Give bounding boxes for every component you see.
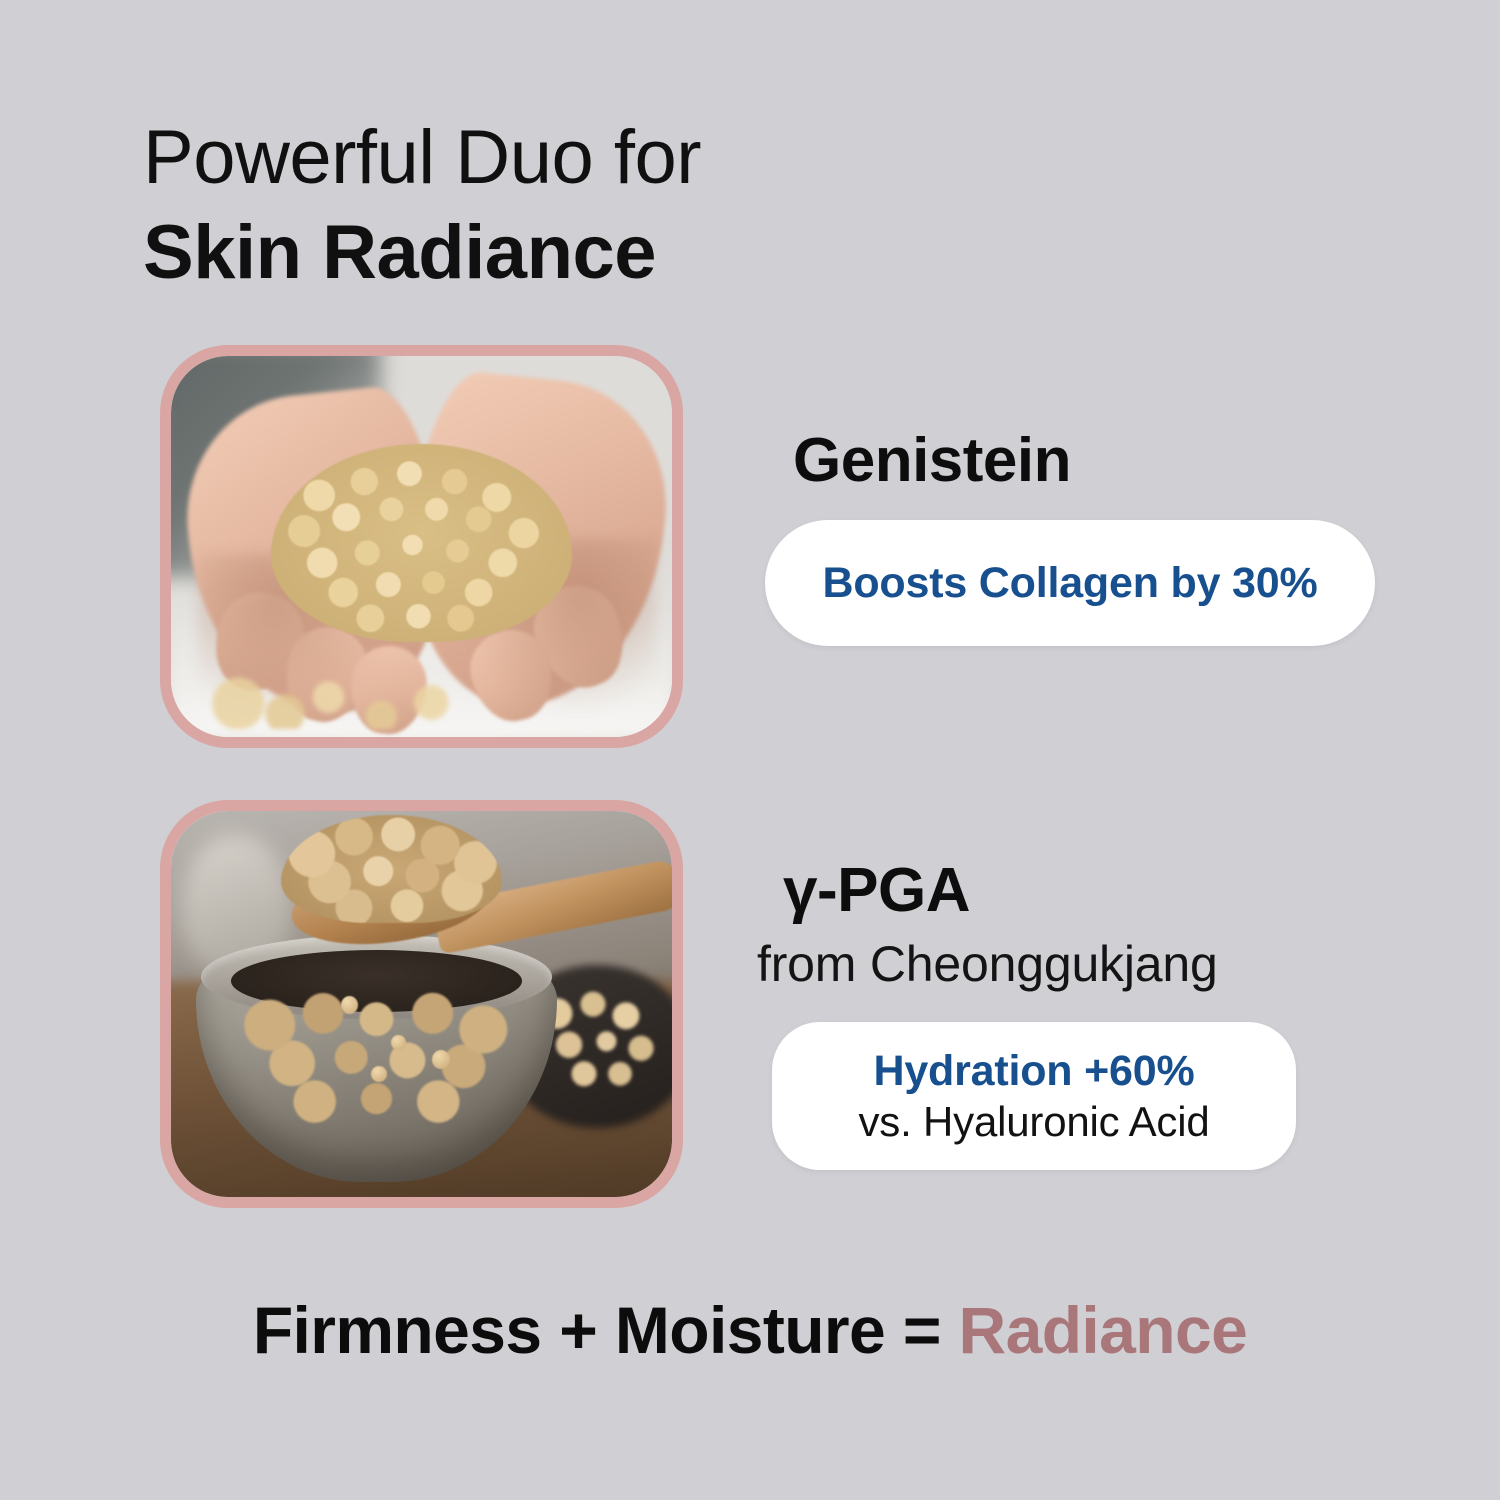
- claim-badge-gamma-pga: Hydration +60% vs. Hyaluronic Acid: [772, 1022, 1296, 1170]
- photo-gamma-pga-canvas: [171, 811, 672, 1197]
- ingredient-photo-genistein: [160, 345, 683, 748]
- claim-badge-genistein: Boosts Collagen by 30%: [765, 520, 1375, 646]
- tagline: Firmness + Moisture = Radiance: [0, 1292, 1500, 1368]
- scattered-soybeans: [201, 676, 512, 729]
- photo-genistein-canvas: [171, 356, 672, 737]
- ingredient-title-genistein: Genistein: [793, 425, 1071, 496]
- ingredient-title-gamma-pga: γ-PGA: [783, 855, 970, 926]
- tagline-accent: Radiance: [959, 1293, 1248, 1367]
- claim-primary-text: Boosts Collagen by 30%: [823, 559, 1318, 607]
- bean-drip: [432, 1050, 450, 1069]
- headline-line-2: Skin Radiance: [143, 213, 1043, 294]
- page-title: Powerful Duo for Skin Radiance: [143, 118, 1043, 293]
- ingredient-subtitle-gamma-pga: from Cheonggukjang: [757, 935, 1218, 993]
- ingredient-photo-gamma-pga: [160, 800, 683, 1208]
- claim-secondary-text: vs. Hyaluronic Acid: [858, 1098, 1209, 1145]
- tagline-prefix: Firmness + Moisture =: [253, 1293, 959, 1367]
- infographic-root: Powerful Duo for Skin Radiance: [0, 0, 1500, 1500]
- claim-primary-text: Hydration +60%: [873, 1047, 1194, 1095]
- headline-line-1: Powerful Duo for: [143, 118, 1043, 199]
